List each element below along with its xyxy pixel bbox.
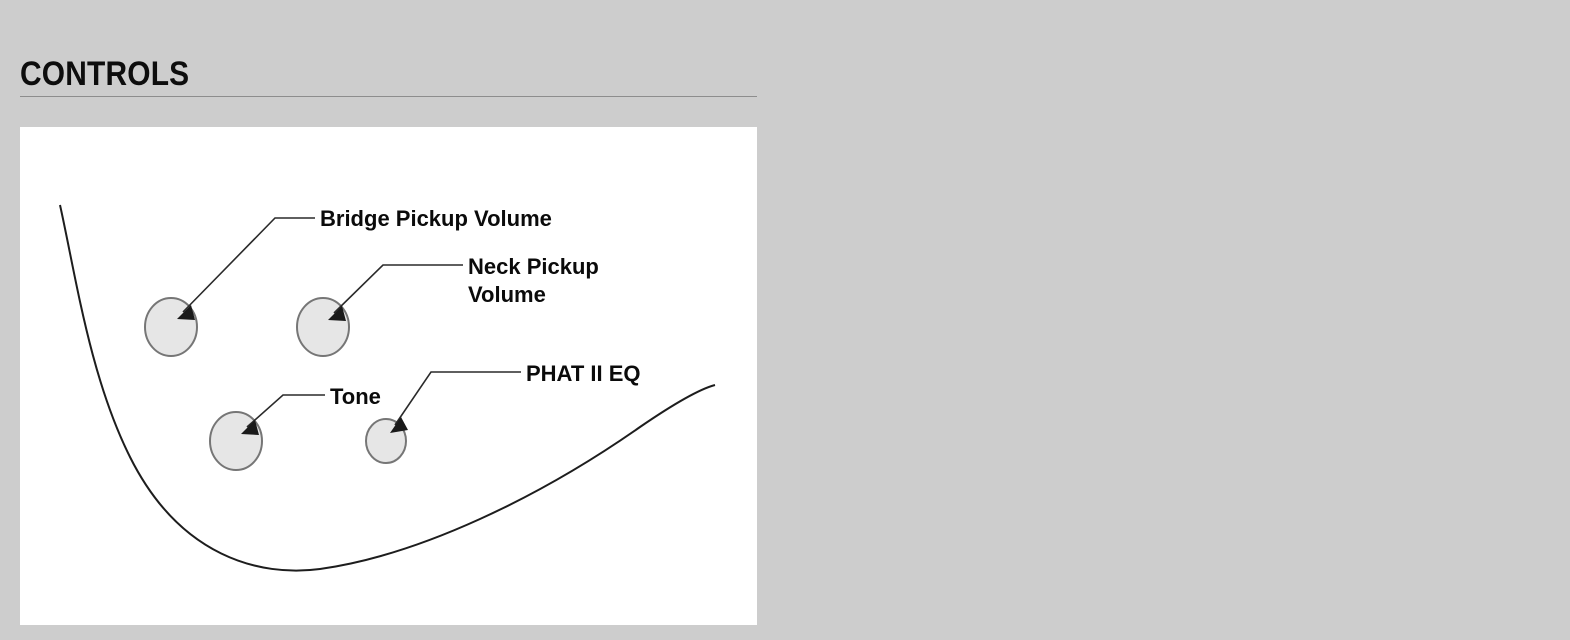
tone-leader-line: [247, 395, 325, 427]
product-detail-page: CONTROLS Bridge Pickup Volume Neck Picku…: [0, 0, 1570, 640]
phat-ii-eq-label: PHAT II EQ: [526, 361, 641, 386]
guitar-body-outline: [60, 205, 715, 571]
controls-title-divider: [20, 96, 757, 97]
controls-panel: CONTROLS Bridge Pickup Volume Neck Picku…: [0, 0, 800, 640]
controls-panel-title: CONTROLS: [20, 55, 189, 94]
phat-ii-eq-leader-line: [395, 372, 521, 425]
guitar-controls-diagram: Bridge Pickup Volume Neck Pickup Volume …: [20, 127, 757, 625]
neck-pickup-volume-label-line1: Neck Pickup: [468, 254, 599, 279]
tone-label: Tone: [330, 384, 381, 409]
neck-pickup-volume-label-line2: Volume: [468, 282, 546, 307]
neck-pickup-volume-leader-line: [334, 265, 463, 313]
frequency-response-panel: FREQUENCY RESPONSE PHAT II 20dBv100-10-2…: [800, 0, 1570, 640]
controls-diagram-card: Bridge Pickup Volume Neck Pickup Volume …: [20, 127, 757, 625]
bridge-pickup-volume-leader-line: [183, 218, 315, 312]
bridge-pickup-volume-label: Bridge Pickup Volume: [320, 206, 552, 231]
